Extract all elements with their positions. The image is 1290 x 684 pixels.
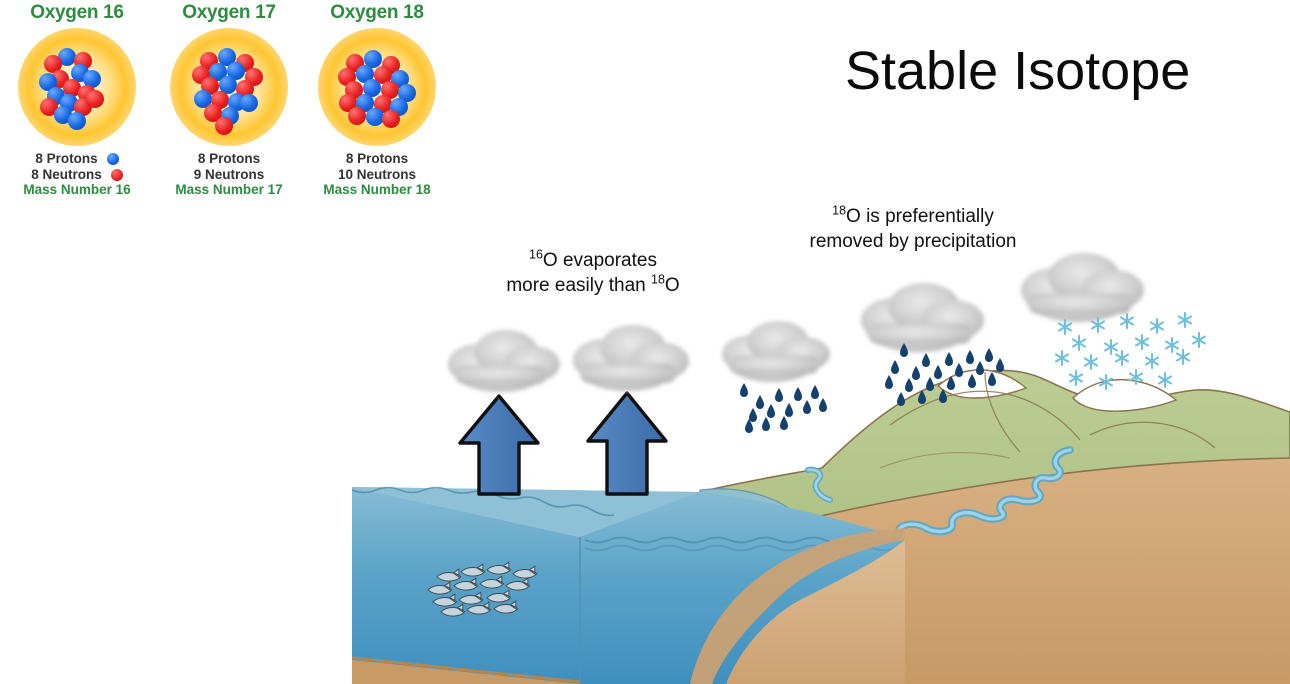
isotope-panel-oxygen-18: Oxygen 18 (304, 0, 450, 215)
isotope-title: Oxygen 17 (156, 0, 302, 26)
isotope-superscript-18: 18 (651, 273, 665, 287)
isotope-panels: Oxygen 16 8 Protons (0, 0, 452, 215)
atom-nucleus-oxygen-18 (318, 28, 436, 146)
atom-nucleus-oxygen-16 (18, 28, 136, 146)
isotope-panel-oxygen-17: Oxygen 17 8 Proton (156, 0, 302, 215)
annotation-line-2: removed by precipitation (810, 231, 1017, 252)
cloud-evap-1 (448, 330, 560, 392)
snowflakes-group (1056, 313, 1205, 389)
isotope-legend: 8 Protons 8 Neutrons Mass Number 16 (4, 151, 150, 198)
isotope-panel-oxygen-16: Oxygen 16 8 Protons (4, 0, 150, 215)
isotope-superscript-16: 16 (529, 248, 543, 262)
cloud-snow (1021, 253, 1144, 322)
neutrons-label: 10 Neutrons (304, 167, 450, 183)
annotation-line-1: 18O is preferentially (832, 206, 994, 227)
isotope-legend: 8 Protons 10 Neutrons Mass Number 18 (304, 151, 450, 198)
cloud-rain-1 (722, 321, 830, 382)
protons-label: 8 Protons (304, 151, 450, 167)
annotation-precipitation: 18O is preferentially removed by precipi… (768, 204, 1058, 254)
protons-label: 8 Protons (156, 151, 302, 167)
mass-number-label: Mass Number 17 (156, 182, 302, 198)
proton-color-dot (107, 153, 119, 165)
annotation-line-1: 16O evaporates (529, 250, 657, 271)
neutron-color-dot (111, 169, 123, 181)
neutrons-label: 8 Neutrons (4, 167, 150, 183)
annotation-evaporation: 16O evaporates more easily than 18O (468, 248, 718, 298)
evaporation-arrow-left (460, 396, 538, 494)
isotope-title: Oxygen 16 (4, 0, 150, 26)
isotope-legend: 8 Protons 9 Neutrons Mass Number 17 (156, 151, 302, 198)
mass-number-label: Mass Number 16 (4, 182, 150, 198)
rain-drops-group-1 (740, 383, 827, 433)
atom-nucleus-oxygen-17 (170, 28, 288, 146)
cloud-rain-2 (861, 283, 984, 352)
isotope-title: Oxygen 18 (304, 0, 450, 26)
neutrons-label: 9 Neutrons (156, 167, 302, 183)
page-title: Stable Isotope (845, 40, 1245, 102)
cloud-evap-2 (573, 325, 689, 391)
evaporation-arrow-right (588, 393, 666, 494)
protons-label: 8 Protons (4, 151, 150, 167)
annotation-line-2: more easily than 18O (506, 275, 679, 296)
isotope-superscript-18: 18 (832, 204, 846, 218)
slide-canvas: Oxygen 16 8 Protons (0, 0, 1290, 684)
overlay-occlusion-mask-edge (414, 196, 474, 224)
